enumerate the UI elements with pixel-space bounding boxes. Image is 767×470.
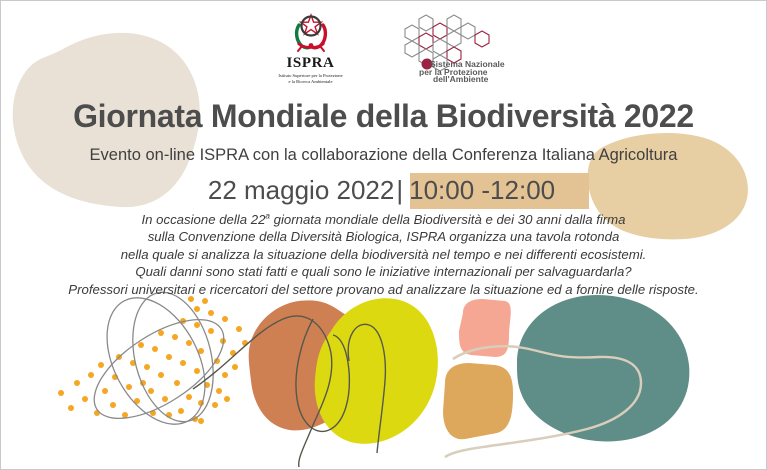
- description-line-1: In occasione della 22a giornata mondiale…: [1, 211, 766, 228]
- ispra-subtitle-line2: e la Ricerca Ambientale: [288, 79, 332, 84]
- description-line-1-prefix: In occasione della 22: [142, 212, 266, 227]
- snpa-line3: dell'Ambiente: [433, 74, 489, 83]
- event-date: 22 maggio 2022: [208, 175, 394, 205]
- description-line-1-suffix: giornata mondiale della Biodiversità e d…: [270, 212, 626, 227]
- beige-curve-line: [445, 346, 641, 457]
- logo-row: ISPRA Istituto Superiore per la Protezio…: [1, 11, 766, 85]
- snpa-logo: Sistema Nazionale per la Protezione dell…: [397, 11, 509, 83]
- ispra-subtitle: Istituto Superiore per la Protezione e l…: [261, 73, 361, 85]
- dark-squiggle-line: [193, 316, 385, 467]
- event-time: 10:00 -12:00: [405, 174, 559, 207]
- dateline-separator: |: [396, 175, 403, 205]
- description-line-3: nella quale si analizza la situazione de…: [1, 246, 766, 263]
- hexagon-network-icon: Sistema Nazionale per la Protezione dell…: [397, 11, 509, 83]
- beige-curve-line-overlay: [445, 346, 641, 457]
- yellow-green-blob: [315, 298, 438, 444]
- teal-circle-blob: [517, 295, 689, 441]
- page-title: Giornata Mondiale della Biodiversità 202…: [1, 98, 766, 135]
- description-line-2: sulla Convenzione della Diversità Biolog…: [1, 228, 766, 245]
- ispra-logo: ISPRA Istituto Superiore per la Protezio…: [259, 11, 363, 85]
- event-description: In occasione della 22a giornata mondiale…: [1, 211, 766, 298]
- description-line-4: Quali danni sono stati fatti e quali son…: [1, 263, 766, 280]
- description-line-5: Professori universitari e ricercatori de…: [1, 281, 766, 298]
- event-subtitle: Evento on-line ISPRA con la collaborazio…: [1, 146, 766, 165]
- orange-dot-cluster: [58, 296, 248, 424]
- event-poster: ISPRA Istituto Superiore per la Protezio…: [0, 0, 767, 470]
- ispra-wordmark: ISPRA: [286, 56, 334, 71]
- italian-republic-emblem-icon: [289, 11, 333, 55]
- salmon-rounded-square: [459, 299, 511, 357]
- ispra-subtitle-line1: Istituto Superiore per la Protezione: [278, 73, 342, 78]
- gray-ellipse-scribble: [78, 281, 239, 441]
- ochre-rounded-square: [443, 363, 513, 439]
- terracotta-blob: [249, 300, 412, 430]
- date-time-line: 22 maggio 2022|10:00 -12:00: [1, 175, 766, 206]
